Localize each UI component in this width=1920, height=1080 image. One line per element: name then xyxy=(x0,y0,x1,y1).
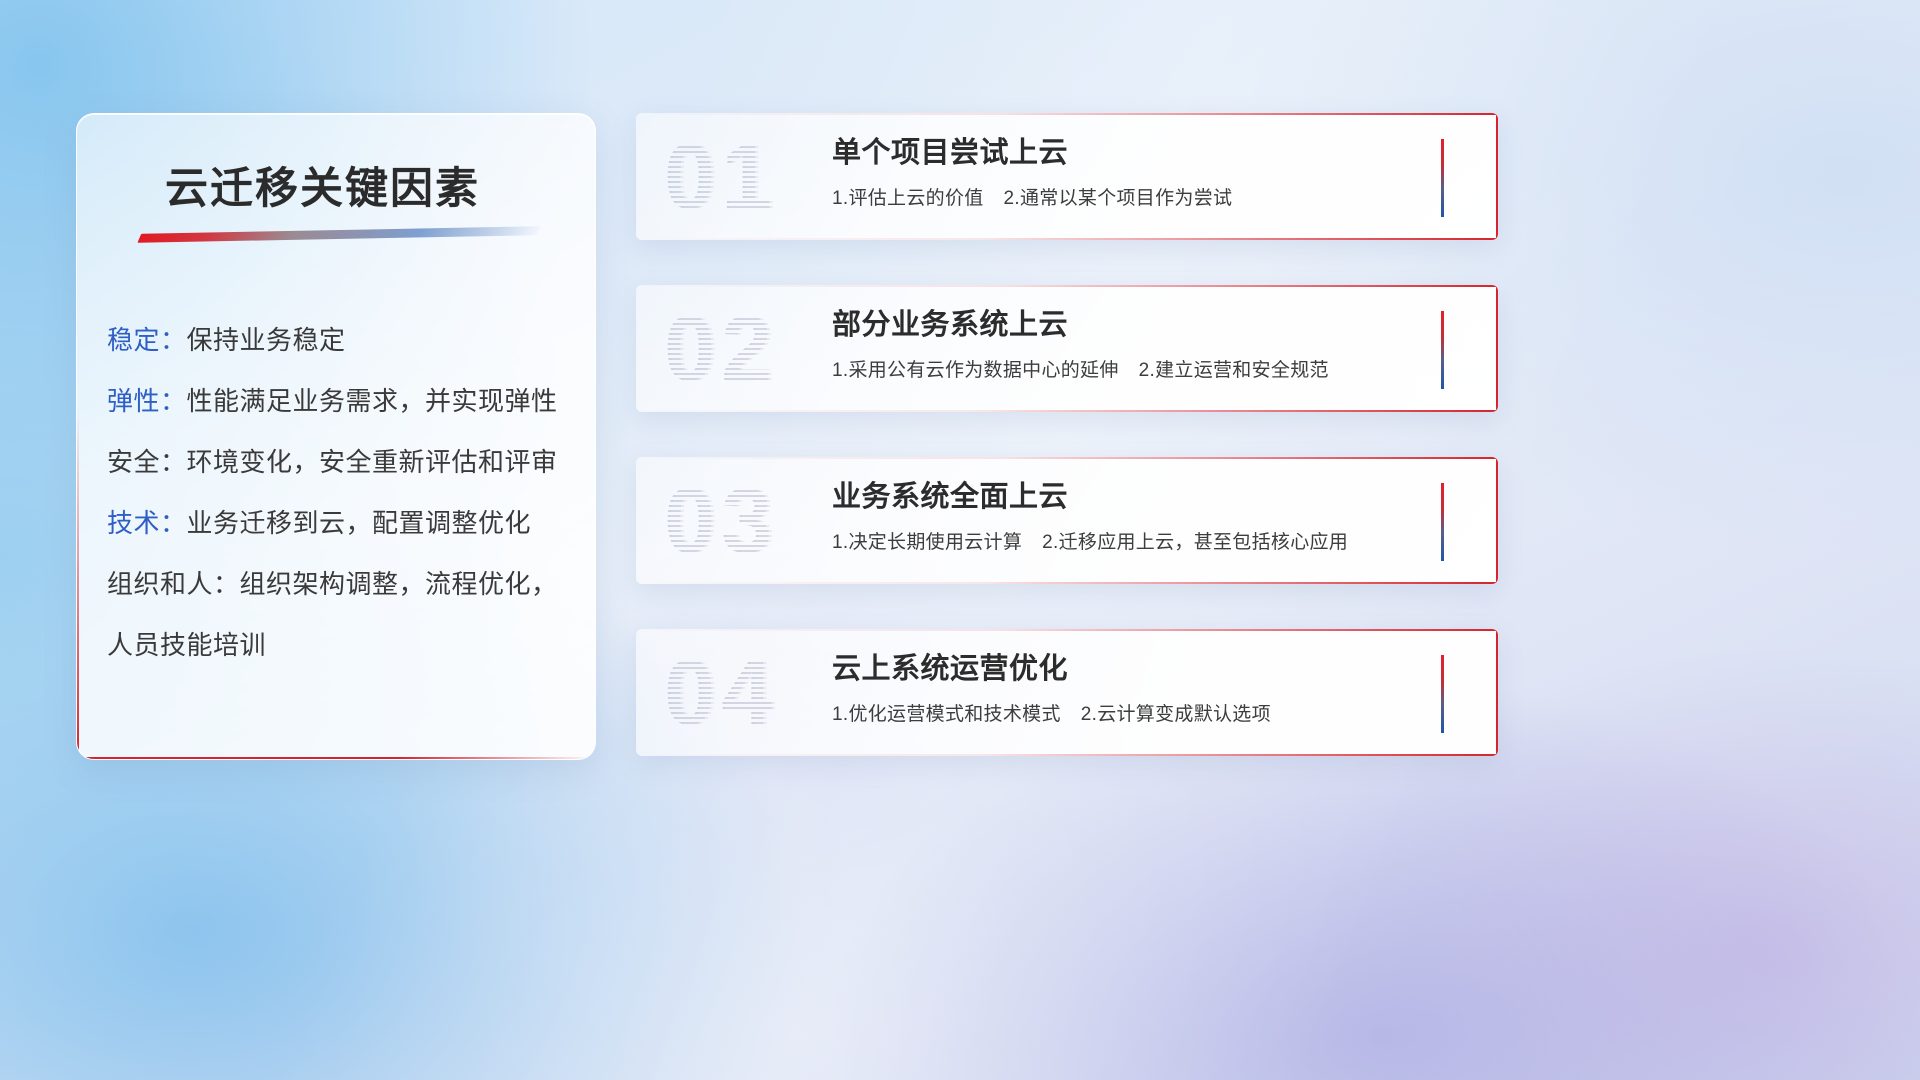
stage-number-04: 04 04 xyxy=(664,637,854,749)
list-item: 安全：环境变化，安全重新评估和评审 xyxy=(107,432,577,493)
list-item-text: 组织架构调整，流程优化， xyxy=(240,569,558,599)
stage-desc-part-2: 2.云计算变成默认选项 xyxy=(1081,704,1271,725)
stage-divider-bar xyxy=(1441,139,1444,217)
list-item-text: 人员技能培训 xyxy=(107,630,266,660)
card-top-accent xyxy=(636,113,1498,115)
list-item: 弹性：性能满足业务需求，并实现弹性 xyxy=(107,371,577,432)
stage-card-02[interactable]: 02 02 部分业务系统上云 1.采用公有云作为数据中心的延伸2.建立运营和安全… xyxy=(636,285,1498,412)
stage-desc-part-1: 1.评估上云的价值 xyxy=(832,188,984,209)
card-right-accent xyxy=(1496,113,1498,240)
stage-desc-part-2: 2.通常以某个项目作为尝试 xyxy=(1004,188,1233,209)
stage-description: 1.优化运营模式和技术模式2.云计算变成默认选项 xyxy=(832,699,1271,726)
stage-title: 部分业务系统上云 xyxy=(832,301,1068,343)
stage-description: 1.决定长期使用云计算2.迁移应用上云，甚至包括核心应用 xyxy=(832,527,1348,554)
title-underline-rule xyxy=(137,226,540,243)
list-item: 技术：业务迁移到云，配置调整优化 xyxy=(107,493,577,554)
list-item: 人员技能培训 xyxy=(107,615,577,676)
list-item-text: 性能满足业务需求，并实现弹性 xyxy=(187,386,558,416)
stage-number-echo: 01 xyxy=(667,121,781,233)
stage-description: 1.评估上云的价值2.通常以某个项目作为尝试 xyxy=(832,183,1232,210)
stage-desc-part-1: 1.采用公有云作为数据中心的延伸 xyxy=(832,360,1119,381)
stage-card-01[interactable]: 01 01 单个项目尝试上云 1.评估上云的价值2.通常以某个项目作为尝试 xyxy=(636,113,1498,240)
card-bottom-accent xyxy=(636,238,1498,240)
key-factors-list: 稳定：保持业务稳定 弹性：性能满足业务需求，并实现弹性 安全：环境变化，安全重新… xyxy=(107,310,577,676)
list-item-label: 稳定： xyxy=(107,325,187,355)
card-top-accent xyxy=(636,285,1498,287)
key-factors-card: 云迁移关键因素 稳定：保持业务稳定 弹性：性能满足业务需求，并实现弹性 安全：环… xyxy=(76,113,596,760)
card-top-accent xyxy=(636,629,1498,631)
card-right-accent xyxy=(1496,285,1498,412)
card-bottom-accent xyxy=(636,754,1498,756)
stage-desc-part-1: 1.优化运营模式和技术模式 xyxy=(832,704,1061,725)
stage-number-echo: 03 xyxy=(667,465,781,577)
stage-number-03: 03 03 xyxy=(664,465,854,577)
stage-desc-part-2: 2.迁移应用上云，甚至包括核心应用 xyxy=(1042,532,1348,553)
stage-description: 1.采用公有云作为数据中心的延伸2.建立运营和安全规范 xyxy=(832,355,1329,382)
left-card-bottom-accent xyxy=(77,757,595,759)
list-item-label: 组织和人： xyxy=(107,569,240,599)
list-item-text: 保持业务稳定 xyxy=(187,325,346,355)
list-item-text: 业务迁移到云，配置调整优化 xyxy=(187,508,532,538)
stage-card-04[interactable]: 04 04 云上系统运营优化 1.优化运营模式和技术模式2.云计算变成默认选项 xyxy=(636,629,1498,756)
list-item-label: 安全： xyxy=(107,447,187,477)
stage-desc-part-1: 1.决定长期使用云计算 xyxy=(832,532,1022,553)
stage-title: 云上系统运营优化 xyxy=(832,645,1068,687)
list-item-label: 弹性： xyxy=(107,386,187,416)
stage-title: 业务系统全面上云 xyxy=(832,473,1068,515)
slide-stage: 云迁移关键因素 稳定：保持业务稳定 弹性：性能满足业务需求，并实现弹性 安全：环… xyxy=(0,0,1920,1080)
stage-number-echo: 04 xyxy=(667,637,781,749)
stage-number-echo: 02 xyxy=(667,293,781,405)
stage-title: 单个项目尝试上云 xyxy=(832,129,1068,171)
stage-divider-bar xyxy=(1441,483,1444,561)
stage-divider-bar xyxy=(1441,655,1444,733)
stage-number-02: 02 02 xyxy=(664,293,854,405)
list-item-text: 环境变化，安全重新评估和评审 xyxy=(187,447,558,477)
stage-desc-part-2: 2.建立运营和安全规范 xyxy=(1139,360,1329,381)
card-bottom-accent xyxy=(636,410,1498,412)
card-bottom-accent xyxy=(636,582,1498,584)
card-top-accent xyxy=(636,457,1498,459)
stage-number-01: 01 01 xyxy=(664,121,854,233)
card-right-accent xyxy=(1496,629,1498,756)
page-title: 云迁移关键因素 xyxy=(165,154,480,216)
list-item: 稳定：保持业务稳定 xyxy=(107,310,577,371)
list-item-label: 技术： xyxy=(107,508,187,538)
stage-card-03[interactable]: 03 03 业务系统全面上云 1.决定长期使用云计算2.迁移应用上云，甚至包括核… xyxy=(636,457,1498,584)
card-right-accent xyxy=(1496,457,1498,584)
stage-divider-bar xyxy=(1441,311,1444,389)
list-item: 组织和人：组织架构调整，流程优化， xyxy=(107,554,577,615)
